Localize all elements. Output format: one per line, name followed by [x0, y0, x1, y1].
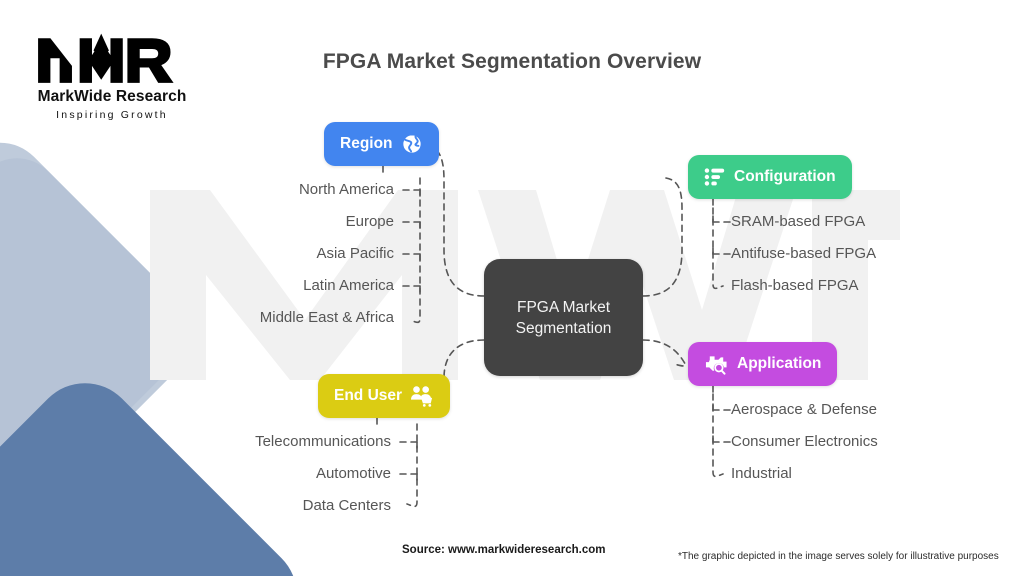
wire-center-configuration — [643, 178, 682, 296]
leaf-application-2: Industrial — [731, 465, 792, 483]
branch-pill-application[interactable]: Application — [688, 342, 837, 386]
branch-pill-end-user[interactable]: End User — [318, 374, 450, 418]
leaf-configuration-1: Antifuse-based FPGA — [731, 245, 876, 263]
users-cart-icon — [410, 385, 434, 407]
leaf-end-user-2: Data Centers — [303, 497, 391, 515]
leaf-configuration-0: SRAM-based FPGA — [731, 213, 865, 231]
leaf-region-4: Middle East & Africa — [260, 309, 394, 327]
list-settings-icon — [704, 166, 726, 188]
center-node-line2: Segmentation — [516, 320, 612, 337]
disclaimer-note: *The graphic depicted in the image serve… — [678, 551, 999, 562]
leaf-region-0: North America — [299, 181, 394, 199]
wire-config-stubs — [713, 222, 731, 254]
wire-application-stubs — [713, 410, 731, 442]
branch-label-application: Application — [737, 355, 821, 373]
leaf-end-user-1: Automotive — [316, 465, 391, 483]
leaf-region-2: Asia Pacific — [316, 245, 394, 263]
branch-pill-configuration[interactable]: Configuration — [688, 155, 852, 199]
leaf-end-user-0: Telecommunications — [255, 433, 391, 451]
leaf-application-0: Aerospace & Defense — [731, 401, 877, 419]
wire-enduser-stubs — [399, 442, 417, 474]
wire-region-spine — [410, 178, 420, 322]
leaf-configuration-2: Flash-based FPGA — [731, 277, 859, 295]
infographic-canvas: MarkWide Research Inspiring Growth FPGA … — [0, 0, 1024, 576]
branch-label-region: Region — [340, 135, 393, 153]
branch-label-end-user: End User — [334, 387, 402, 405]
center-node-line1: FPGA Market — [517, 299, 610, 316]
wire-region-stubs — [402, 190, 420, 286]
center-node[interactable]: FPGA Market Segmentation — [484, 259, 643, 376]
source-credit: Source: www.markwideresearch.com — [402, 544, 605, 556]
wire-application-spine — [713, 394, 723, 476]
wire-enduser-spine — [407, 424, 417, 506]
wire-center-application — [643, 340, 685, 366]
leaf-application-1: Consumer Electronics — [731, 433, 878, 451]
leaf-region-3: Latin America — [303, 277, 394, 295]
wire-config-spine — [713, 208, 723, 288]
branch-pill-region[interactable]: Region — [324, 122, 439, 166]
wire-center-region — [424, 144, 484, 296]
branch-label-configuration: Configuration — [734, 168, 836, 186]
engine-search-icon — [704, 353, 729, 376]
leaf-region-1: Europe — [346, 213, 394, 231]
globe-icon — [401, 133, 423, 155]
